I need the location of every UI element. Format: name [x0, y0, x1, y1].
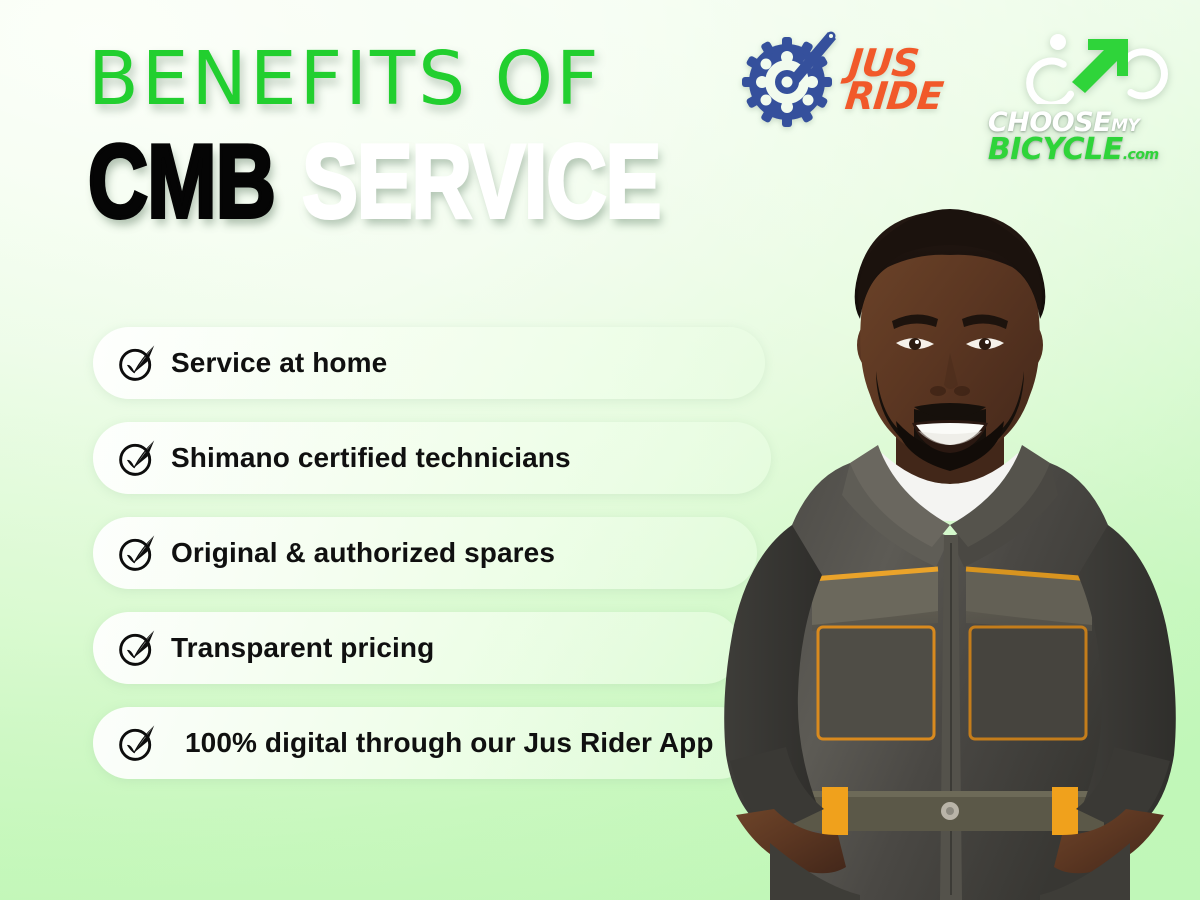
check-circle-icon	[117, 343, 157, 383]
benefit-pill[interactable]: 100% digital through our Jus Rider App	[93, 707, 755, 779]
cmb-wordmark-row2: BICYCLE.com	[988, 132, 1159, 167]
benefit-pill[interactable]: Service at home	[93, 327, 765, 399]
headline-line-benefits: BENEFITS OF	[88, 42, 804, 116]
cmb-word-bicycle: BICYCLE	[988, 132, 1123, 167]
headline-word-cmb: CMB	[88, 124, 275, 240]
check-circle-icon	[117, 723, 157, 763]
benefits-list: Service at homeShimano certified technic…	[93, 327, 771, 802]
benefit-label: Original & authorized spares	[171, 537, 555, 569]
benefit-label: Transparent pricing	[171, 632, 434, 664]
cmb-word-dotcom: .com	[1123, 147, 1159, 163]
check-circle-icon	[117, 628, 157, 668]
page-title: BENEFITS OF CMBSERVICE	[88, 42, 804, 234]
bicycle-arrow-icon	[1018, 26, 1170, 109]
choosemybicycle-wordmark: CHOOSEMY BICYCLE.com	[988, 111, 1200, 163]
jus-ride-line2: RIDE	[843, 81, 943, 114]
benefit-label: Shimano certified technicians	[171, 442, 571, 474]
poster-canvas: BENEFITS OF CMBSERVICE	[0, 0, 1200, 900]
benefit-label: 100% digital through our Jus Rider App	[185, 727, 714, 759]
check-circle-icon	[117, 533, 157, 573]
headline-line-cmb-service: CMBSERVICE	[88, 130, 660, 234]
logo-choosemybicycle[interactable]: CHOOSEMY BICYCLE.com	[988, 26, 1200, 163]
chainring-crank-icon	[735, 26, 839, 135]
smiling-technician-photo	[700, 195, 1200, 900]
jus-ride-wordmark: JUS RIDE	[843, 47, 947, 114]
headline-word-service: SERVICE	[302, 124, 660, 240]
benefit-pill[interactable]: Original & authorized spares	[93, 517, 757, 589]
benefit-pill[interactable]: Shimano certified technicians	[93, 422, 771, 494]
check-circle-icon	[117, 438, 157, 478]
benefit-label: Service at home	[171, 347, 387, 379]
benefit-pill[interactable]: Transparent pricing	[93, 612, 741, 684]
logo-bar: JUS RIDE CHOOSEMY BICYCLE.com	[735, 26, 1200, 163]
logo-jus-ride[interactable]: JUS RIDE	[735, 26, 944, 135]
